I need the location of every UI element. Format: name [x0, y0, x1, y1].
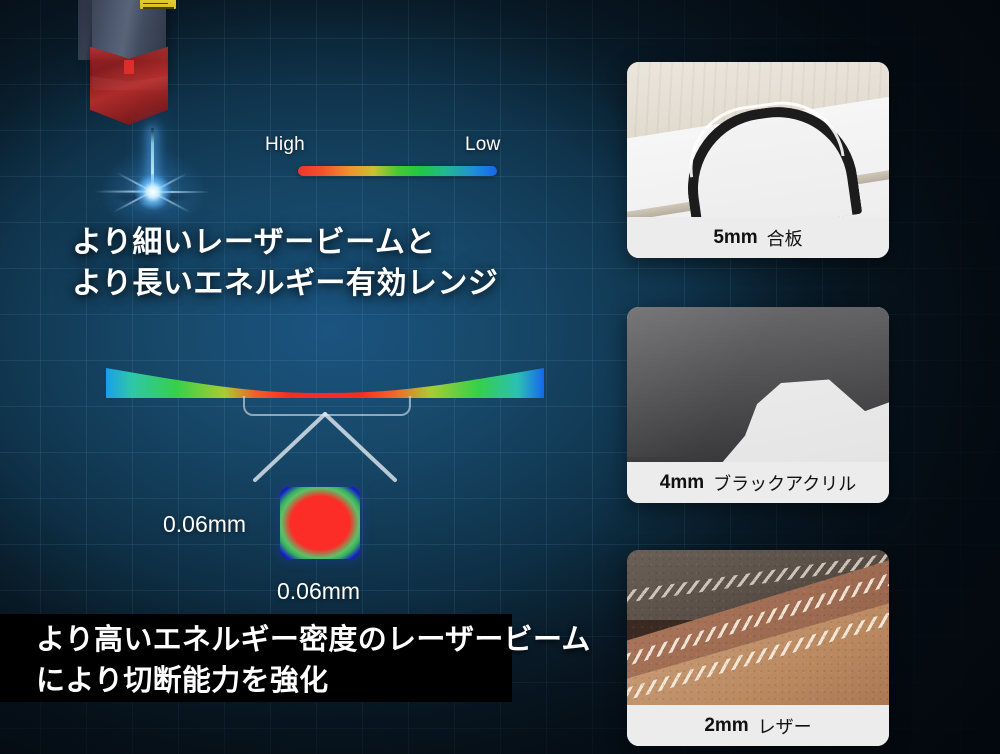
- sample-size-label: 2mm: [704, 715, 748, 737]
- laser-nozzle: [124, 60, 134, 74]
- beam-impact-flare: [135, 174, 171, 210]
- sample-caption-leather: 2mm レザー: [627, 705, 889, 746]
- sample-material-label: レザー: [758, 713, 812, 739]
- headline-bottom-line2: により切断能力を強化: [36, 661, 636, 702]
- headline-bottom: より高いエネルギー密度のレーザービーム により切断能力を強化: [36, 620, 636, 702]
- sample-size-label: 4mm: [660, 472, 704, 494]
- sample-size-label: 5mm: [713, 227, 757, 249]
- sample-photo-leather: [627, 550, 889, 705]
- sample-card-leather[interactable]: 2mm レザー: [627, 550, 889, 746]
- legend-high-label: High: [265, 134, 305, 156]
- callout-caret: [243, 412, 407, 484]
- acrylic-gloss: [627, 307, 889, 457]
- energy-gradient-bar: [298, 166, 497, 176]
- headline-top-line2: より長いエネルギー有効レンジ: [72, 263, 542, 304]
- spot-width-label: 0.06mm: [277, 578, 360, 605]
- headline-top-line1: より細いレーザービームと: [72, 222, 542, 263]
- sample-material-label: ブラックアクリル: [713, 470, 856, 496]
- headline-bottom-line1: より高いエネルギー密度のレーザービーム: [36, 620, 636, 661]
- sample-card-acrylic[interactable]: 4mm ブラックアクリル: [627, 307, 889, 503]
- spot-height-label: 0.06mm: [163, 511, 246, 538]
- laser-spot-square: [280, 487, 360, 559]
- promo-graphic: High Low より細いレーザービームと より長いエネルギー有効レンジ: [0, 0, 1000, 754]
- laser-head-illustration: [66, 0, 190, 140]
- headline-top: より細いレーザービームと より長いエネルギー有効レンジ: [72, 222, 542, 305]
- sample-photo-plywood: [627, 62, 889, 217]
- leather-texture: [627, 550, 889, 705]
- sample-photo-acrylic: [627, 307, 889, 462]
- warning-label-icon: [140, 0, 176, 9]
- sample-caption-acrylic: 4mm ブラックアクリル: [627, 462, 889, 503]
- sample-caption-plywood: 5mm 合板: [627, 217, 889, 258]
- sample-card-plywood[interactable]: 5mm 合板: [627, 62, 889, 258]
- sample-material-label: 合板: [767, 225, 803, 251]
- legend-low-label: Low: [465, 134, 500, 156]
